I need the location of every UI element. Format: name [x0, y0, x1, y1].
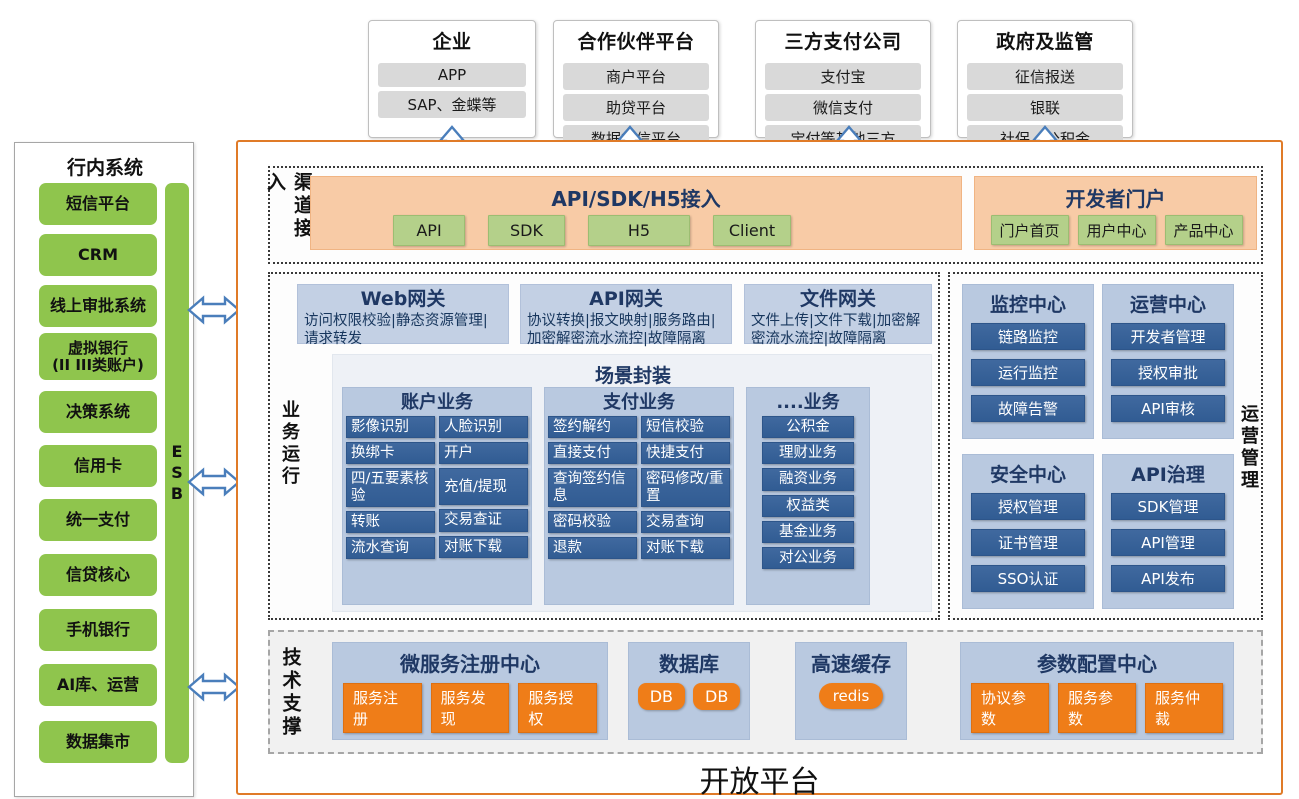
ops-item[interactable]: 开发者管理: [1111, 323, 1225, 350]
channel-chip-label: SDK: [510, 221, 543, 240]
channel-chip-sdk[interactable]: SDK: [488, 215, 565, 246]
external-party-item: 支付宝: [765, 63, 921, 90]
tech-item[interactable]: 协议参数: [971, 683, 1049, 733]
external-party-item: 助贷平台: [563, 94, 709, 121]
business-column-account: 账户业务 影像识别 换绑卡 四/五要素核验 转账 流水查询 人脸识别 开户 充值…: [342, 387, 532, 605]
channel-chip-label: Client: [729, 221, 775, 240]
business-item[interactable]: 基金业务: [762, 521, 854, 543]
channel-chip-client[interactable]: Client: [713, 215, 791, 246]
bank-system-online-approval[interactable]: 线上审批系统: [39, 285, 157, 327]
bank-system-unified-payment[interactable]: 统一支付: [39, 499, 157, 541]
ops-card-security: 安全中心 授权管理 证书管理 SSO认证: [962, 454, 1094, 609]
developer-portal-card: 开发者门户 门户首页 用户中心 产品中心: [974, 176, 1257, 250]
ops-item[interactable]: 故障告警: [971, 395, 1085, 422]
tech-support-section: 技术支撑 微服务注册中心 服务注册 服务发现 服务授权 数据库 DB DB 高速…: [268, 630, 1263, 754]
bank-system-label: 线上审批系统: [50, 297, 146, 315]
tech-card-param-config: 参数配置中心 协议参数 服务参数 服务仲裁: [960, 642, 1234, 740]
ops-card-title: 安全中心: [990, 460, 1066, 487]
bank-system-label: AI库、运营: [57, 676, 139, 694]
gateway-card-file: 文件网关 文件上传|文件下载|加密解密流水流控|故障隔离: [744, 284, 932, 344]
horizontal-connector-arrows: [186, 142, 242, 797]
api-sdk-h5-access-title: API/SDK/H5接入: [551, 183, 720, 212]
external-party-partner-platform: 合作伙伴平台 商户平台 助贷平台 数据征信平台: [553, 20, 719, 138]
channel-chip-label: H5: [628, 221, 650, 240]
business-item[interactable]: 转账: [346, 511, 435, 533]
business-column-title: ....业务: [750, 391, 866, 416]
tech-card-title: 微服务注册中心: [400, 648, 540, 677]
tech-card-cache: 高速缓存 redis: [795, 642, 907, 740]
portal-chip-home[interactable]: 门户首页: [991, 215, 1069, 245]
arrow-left-right-icon: [189, 298, 239, 322]
business-column-payment: 支付业务 签约解约 直接支付 查询签约信息 密码校验 退款 短信校验 快捷支付 …: [544, 387, 734, 605]
business-item[interactable]: 密码修改/重置: [641, 468, 730, 506]
ops-item[interactable]: 运行监控: [971, 359, 1085, 386]
bank-system-data-mart[interactable]: 数据集市: [39, 721, 157, 763]
business-item[interactable]: 理财业务: [762, 442, 854, 464]
business-item[interactable]: 开户: [439, 442, 528, 464]
external-party-title: 三方支付公司: [784, 27, 901, 54]
channel-access-side-label: 渠道接入: [274, 172, 304, 260]
bank-system-credit-core[interactable]: 信贷核心: [39, 554, 157, 596]
business-item[interactable]: 退款: [548, 537, 637, 559]
bank-system-label: CRM: [78, 246, 118, 264]
business-column-other: ....业务 公积金 理财业务 融资业务 权益类 基金业务 对公业务: [746, 387, 870, 605]
tech-support-side-label: 技术支撑: [276, 640, 306, 746]
bank-system-label: 虚拟银行 (II III类账户): [52, 340, 144, 373]
bank-system-credit-card[interactable]: 信用卡: [39, 445, 157, 487]
tech-card-title: 高速缓存: [811, 648, 891, 677]
business-item[interactable]: 查询签约信息: [548, 468, 637, 506]
business-item[interactable]: 人脸识别: [439, 416, 528, 438]
channel-chip-api[interactable]: API: [393, 215, 465, 246]
tech-item[interactable]: 服务参数: [1058, 683, 1136, 733]
tech-item[interactable]: 服务仲裁: [1145, 683, 1223, 733]
ops-item[interactable]: SSO认证: [971, 565, 1085, 592]
gateway-title: 文件网关: [751, 289, 925, 311]
external-party-item: 商户平台: [563, 63, 709, 90]
ops-item[interactable]: 链路监控: [971, 323, 1085, 350]
arrow-left-right-icon: [189, 675, 239, 699]
bank-system-label: 数据集市: [66, 733, 130, 751]
arrow-left-right-icon: [189, 470, 239, 494]
bank-system-decision[interactable]: 决策系统: [39, 391, 157, 433]
bank-system-ai-ops[interactable]: AI库、运营: [39, 664, 157, 706]
portal-chip-label: 用户中心: [1086, 220, 1146, 241]
ops-card-monitoring: 监控中心 链路监控 运行监控 故障告警: [962, 284, 1094, 439]
business-item[interactable]: 直接支付: [548, 442, 637, 464]
ops-card-title: 运营中心: [1130, 290, 1206, 317]
ops-item[interactable]: API发布: [1111, 565, 1225, 592]
external-party-item: 银联: [967, 94, 1123, 121]
portal-chip-product-center[interactable]: 产品中心: [1165, 215, 1243, 245]
tech-item[interactable]: 服务发现: [431, 683, 510, 733]
bank-internal-systems-panel: 行内系统 短信平台 CRM 线上审批系统 虚拟银行 (II III类账户) 决策…: [14, 142, 194, 797]
external-party-item: SAP、金蝶等: [378, 91, 526, 118]
channel-chip-label: API: [416, 221, 441, 240]
business-item[interactable]: 公积金: [762, 416, 854, 438]
portal-chip-user-center[interactable]: 用户中心: [1078, 215, 1156, 245]
developer-portal-title: 开发者门户: [1066, 183, 1166, 212]
business-item[interactable]: 密码校验: [548, 511, 637, 533]
bank-system-label: 信用卡: [74, 457, 122, 475]
api-sdk-h5-access-card: API/SDK/H5接入 API SDK H5 Client: [310, 176, 962, 250]
platform-footer-title: 开放平台: [236, 757, 1283, 799]
esb-label: ESB: [168, 442, 187, 505]
bank-system-virtual-bank[interactable]: 虚拟银行 (II III类账户): [39, 333, 157, 380]
business-item[interactable]: 对公业务: [762, 547, 854, 569]
ops-card-api-governance: API治理 SDK管理 API管理 API发布: [1102, 454, 1234, 609]
business-item[interactable]: 签约解约: [548, 416, 637, 438]
business-item[interactable]: 充值/提现: [439, 468, 528, 505]
ops-item[interactable]: API审核: [1111, 395, 1225, 422]
architecture-diagram: 企业 APP SAP、金蝶等 合作伙伴平台 商户平台 助贷平台 数据征信平台 三…: [0, 0, 1299, 799]
portal-chip-label: 产品中心: [1173, 220, 1233, 241]
bank-system-label: 统一支付: [66, 511, 130, 529]
business-run-side-label: 业务运行: [274, 374, 304, 514]
scene-encapsulation-wrap: 场景封装 账户业务 影像识别 换绑卡 四/五要素核验 转账 流水查询 人脸识别 …: [332, 354, 932, 612]
tech-card-database: 数据库 DB DB: [628, 642, 750, 740]
tech-card-title: 数据库: [659, 648, 719, 677]
business-item[interactable]: 换绑卡: [346, 442, 435, 464]
external-party-government-regulator: 政府及监管 征信报送 银联 社保、公积金: [957, 20, 1133, 138]
gateway-desc: 访问权限校验|静态资源管理|请求转发: [304, 313, 502, 348]
business-item[interactable]: 影像识别: [346, 416, 435, 438]
gateway-desc: 文件上传|文件下载|加密解密流水流控|故障隔离: [751, 313, 925, 348]
bank-system-crm[interactable]: CRM: [39, 234, 157, 276]
gateway-title: Web网关: [304, 289, 502, 311]
gateway-title: API网关: [527, 289, 725, 311]
business-item[interactable]: 融资业务: [762, 468, 854, 490]
external-party-title: 政府及监管: [996, 27, 1094, 54]
tech-item[interactable]: 服务授权: [518, 683, 597, 733]
scene-encapsulation-title: 场景封装: [333, 361, 933, 388]
gateway-card-web: Web网关 访问权限校验|静态资源管理|请求转发: [297, 284, 509, 344]
bank-system-sms[interactable]: 短信平台: [39, 183, 157, 225]
channel-chip-h5[interactable]: H5: [588, 215, 690, 246]
external-party-third-party-payment: 三方支付公司 支付宝 微信支付 宝付等其他三方: [755, 20, 931, 138]
business-item[interactable]: 四/五要素核验: [346, 468, 435, 506]
gateway-card-api: API网关 协议转换|报文映射|服务路由|加密解密流水流控|故障隔离: [520, 284, 732, 344]
ops-item[interactable]: 授权管理: [971, 493, 1085, 520]
business-item[interactable]: 交易查询: [641, 511, 730, 533]
bank-system-label: 手机银行: [66, 621, 130, 639]
ops-item[interactable]: 授权审批: [1111, 359, 1225, 386]
business-column-title: 支付业务: [548, 391, 730, 416]
business-item[interactable]: 交易查证: [439, 509, 528, 531]
ops-item[interactable]: 证书管理: [971, 529, 1085, 556]
business-item[interactable]: 权益类: [762, 495, 854, 517]
ops-item[interactable]: API管理: [1111, 529, 1225, 556]
operations-management-section: 监控中心 链路监控 运行监控 故障告警 运营中心 开发者管理 授权审批 API审…: [948, 272, 1263, 620]
database-instance[interactable]: DB: [693, 683, 740, 710]
ops-card-title: API治理: [1131, 460, 1205, 487]
ops-card-operation-center: 运营中心 开发者管理 授权审批 API审核: [1102, 284, 1234, 439]
business-column-title: 账户业务: [346, 391, 528, 416]
bank-system-label: 决策系统: [66, 403, 130, 421]
bank-system-label: 信贷核心: [66, 566, 130, 584]
tech-card-microservice-registry: 微服务注册中心 服务注册 服务发现 服务授权: [332, 642, 608, 740]
gateway-desc: 协议转换|报文映射|服务路由|加密解密流水流控|故障隔离: [527, 313, 725, 348]
business-run-section: 业务运行 Web网关 访问权限校验|静态资源管理|请求转发 API网关 协议转换…: [268, 272, 940, 620]
bank-panel-title: 行内系统: [15, 153, 195, 180]
external-party-item: 征信报送: [967, 63, 1123, 90]
operations-side-label: 运营管理: [1235, 378, 1261, 518]
bank-system-mobile-bank[interactable]: 手机银行: [39, 609, 157, 651]
business-item[interactable]: 快捷支付: [641, 442, 730, 464]
external-party-item: APP: [378, 63, 526, 87]
business-item[interactable]: 对账下载: [641, 537, 730, 559]
ops-card-title: 监控中心: [990, 290, 1066, 317]
database-instance[interactable]: DB: [638, 683, 685, 710]
channel-access-section: 渠道接入 API/SDK/H5接入 API SDK H5 Client 开发者门…: [268, 166, 1263, 264]
tech-card-title: 参数配置中心: [1037, 648, 1157, 677]
external-party-title: 企业: [432, 27, 471, 54]
redis-instance[interactable]: redis: [819, 683, 884, 709]
tech-item[interactable]: 服务注册: [343, 683, 422, 733]
portal-chip-label: 门户首页: [999, 220, 1059, 241]
external-party-enterprise: 企业 APP SAP、金蝶等: [368, 20, 536, 138]
external-party-title: 合作伙伴平台: [577, 27, 694, 54]
business-item[interactable]: 对账下载: [439, 536, 528, 558]
bank-system-label: 短信平台: [66, 195, 130, 213]
business-item[interactable]: 流水查询: [346, 537, 435, 559]
ops-item[interactable]: SDK管理: [1111, 493, 1225, 520]
business-item[interactable]: 短信校验: [641, 416, 730, 438]
external-party-item: 微信支付: [765, 94, 921, 121]
